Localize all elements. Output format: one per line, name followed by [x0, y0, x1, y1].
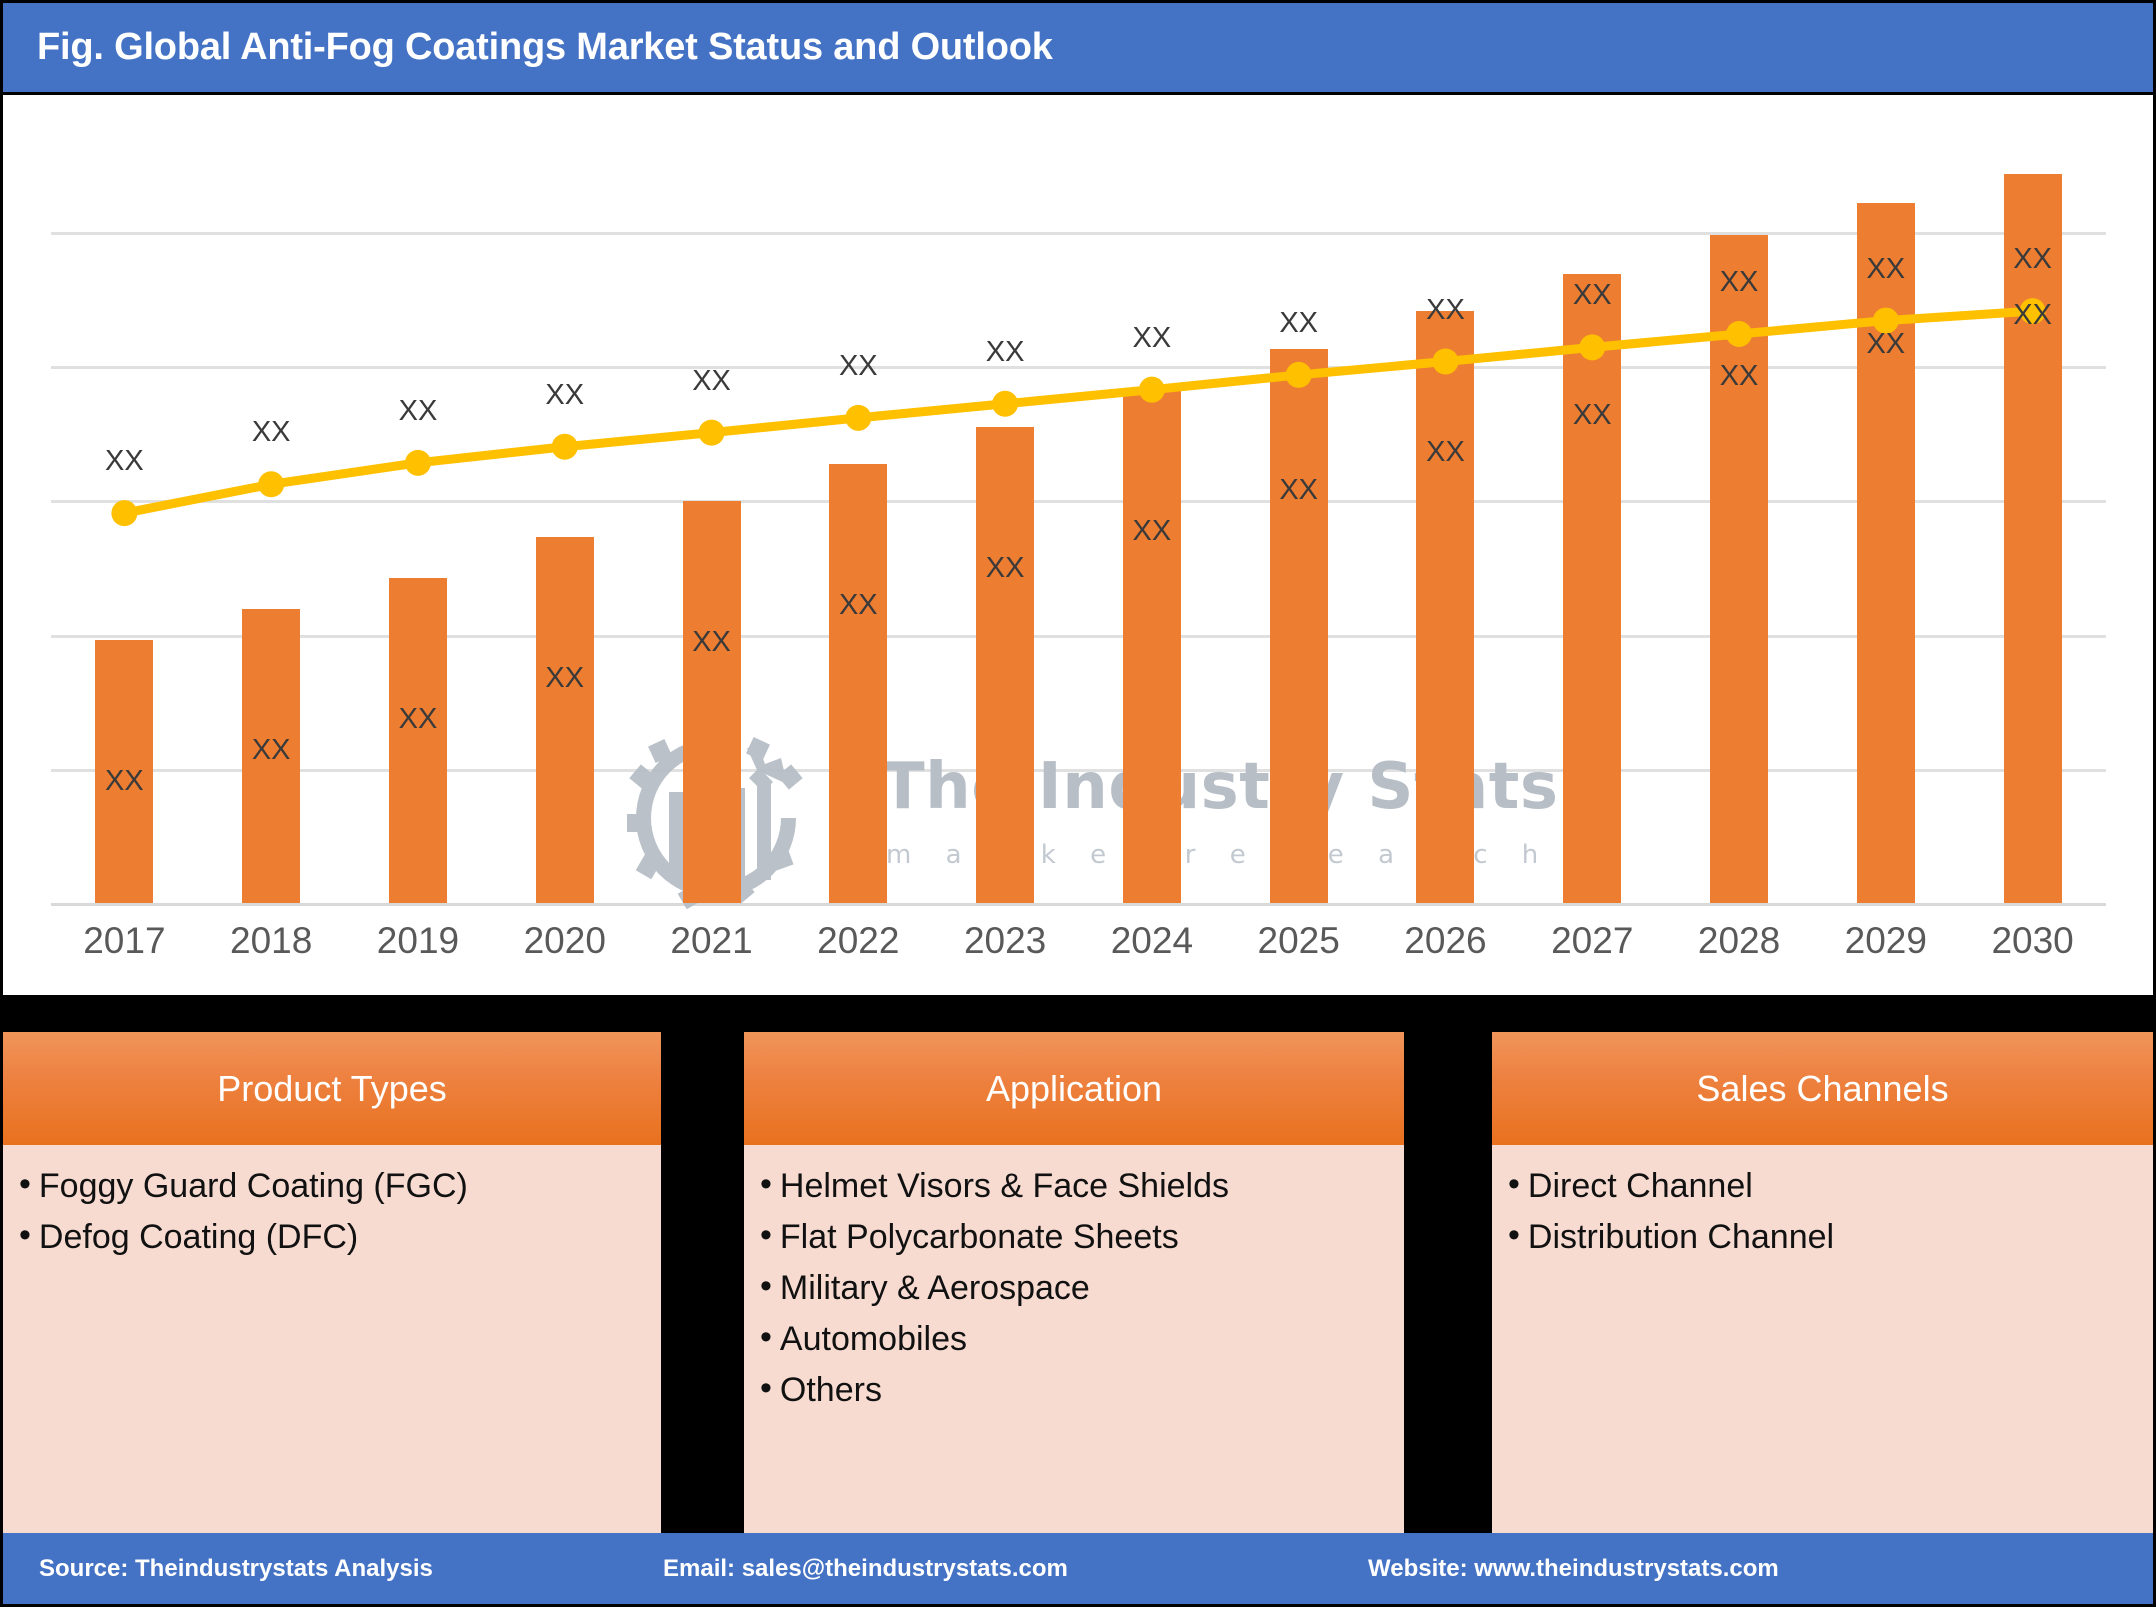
bar-value-label: XX: [662, 626, 762, 659]
list-item-label: Direct Channel: [1528, 1167, 1753, 1206]
list-item: •Flat Polycarbonate Sheets: [744, 1218, 1404, 1269]
bar-value-label: XX: [955, 552, 1055, 585]
footer-website[interactable]: Website: www.theindustrystats.com: [1368, 1555, 1779, 1583]
data-labels: XXXXXXXXXXXXXXXXXXXXXXXXXXXXXXXXXXXXXXXX…: [51, 135, 2106, 850]
chart-panel: The Industry Stats m a r k e t r e s e a…: [3, 95, 2153, 995]
bar-value-label: XX: [1542, 399, 1642, 432]
bullet-icon: •: [19, 1218, 31, 1252]
figure-footer: Source: Theindustrystats Analysis Email:…: [3, 1533, 2153, 1604]
x-axis-line: [51, 903, 2106, 906]
line-value-label: XX: [1836, 253, 1936, 286]
list-item: •Distribution Channel: [1492, 1218, 2153, 1269]
bar-value-label: XX: [221, 734, 321, 767]
x-axis-tick-label: 2027: [1522, 920, 1662, 962]
list-item-label: Helmet Visors & Face Shields: [780, 1167, 1229, 1206]
page-title: Fig. Global Anti-Fog Coatings Market Sta…: [3, 26, 1053, 69]
x-axis-tick-label: 2029: [1816, 920, 1956, 962]
panel-header: Product Types: [3, 1032, 661, 1145]
x-axis-tick-label: 2019: [348, 920, 488, 962]
x-axis-tick-label: 2017: [54, 920, 194, 962]
line-value-label: XX: [1542, 279, 1642, 312]
category-panels: Product Types •Foggy Guard Coating (FGC)…: [0, 1000, 2156, 1530]
bar-value-label: XX: [1836, 328, 1936, 361]
list-item-label: Distribution Channel: [1528, 1218, 1834, 1257]
panel-body: •Helmet Visors & Face Shields•Flat Polyc…: [744, 1145, 1404, 1572]
line-value-label: XX: [1249, 307, 1349, 340]
bar-value-label: XX: [368, 703, 468, 736]
plot-area: The Industry Stats m a r k e t r e s e a…: [51, 135, 2106, 850]
bar-value-label: XX: [74, 765, 174, 798]
list-item: •Direct Channel: [1492, 1167, 2153, 1218]
list-item-label: Automobiles: [780, 1320, 967, 1359]
panel-header: Application: [744, 1032, 1404, 1145]
panel-title: Product Types: [217, 1068, 446, 1110]
line-value-label: XX: [1983, 243, 2083, 276]
x-axis-tick-label: 2023: [935, 920, 1075, 962]
panel-header: Sales Channels: [1492, 1032, 2153, 1145]
x-axis-tick-label: 2028: [1669, 920, 1809, 962]
line-value-label: XX: [1395, 294, 1495, 327]
bar-value-label: XX: [1983, 299, 2083, 332]
line-value-label: XX: [368, 395, 468, 428]
line-value-label: XX: [955, 336, 1055, 369]
list-item: •Foggy Guard Coating (FGC): [3, 1167, 661, 1218]
footer-source: Source: Theindustrystats Analysis: [39, 1555, 433, 1583]
x-axis-tick-label: 2025: [1229, 920, 1369, 962]
bullet-icon: •: [760, 1269, 772, 1303]
list-item: •Defog Coating (DFC): [3, 1218, 661, 1269]
list-item: •Helmet Visors & Face Shields: [744, 1167, 1404, 1218]
line-value-label: XX: [74, 445, 174, 478]
list-item-label: Foggy Guard Coating (FGC): [39, 1167, 468, 1206]
x-axis-labels: 2017201820192020202120222023202420252026…: [51, 920, 2106, 980]
line-value-label: XX: [662, 365, 762, 398]
bar-value-label: XX: [515, 662, 615, 695]
footer-email[interactable]: Email: sales@theindustrystats.com: [663, 1555, 1068, 1583]
line-value-label: XX: [515, 379, 615, 412]
line-value-label: XX: [221, 416, 321, 449]
panel-sales-channels: Sales Channels •Direct Channel•Distribut…: [1492, 1032, 2153, 1572]
list-item-label: Others: [780, 1371, 882, 1410]
bar-value-label: XX: [1395, 436, 1495, 469]
list-item-label: Defog Coating (DFC): [39, 1218, 358, 1257]
line-value-label: XX: [1102, 322, 1202, 355]
panel-body: •Direct Channel•Distribution Channel: [1492, 1145, 2153, 1572]
bullet-icon: •: [760, 1320, 772, 1354]
bar-value-label: XX: [1689, 360, 1789, 393]
x-axis-tick-label: 2030: [1963, 920, 2103, 962]
bar-value-label: XX: [1102, 515, 1202, 548]
bar-value-label: XX: [808, 589, 908, 622]
panel-title: Sales Channels: [1696, 1068, 1948, 1110]
x-axis-tick-label: 2026: [1375, 920, 1515, 962]
x-axis-tick-label: 2024: [1082, 920, 1222, 962]
figure-root: Fig. Global Anti-Fog Coatings Market Sta…: [0, 0, 2156, 1607]
bullet-icon: •: [19, 1167, 31, 1201]
x-axis-tick-label: 2020: [495, 920, 635, 962]
list-item: •Automobiles: [744, 1320, 1404, 1371]
list-item-label: Military & Aerospace: [780, 1269, 1090, 1308]
bullet-icon: •: [760, 1371, 772, 1405]
list-item: •Others: [744, 1371, 1404, 1422]
panel-application: Application •Helmet Visors & Face Shield…: [744, 1032, 1404, 1572]
line-value-label: XX: [1689, 266, 1789, 299]
bullet-icon: •: [1508, 1167, 1520, 1201]
figure-header: Fig. Global Anti-Fog Coatings Market Sta…: [3, 3, 2153, 92]
bullet-icon: •: [1508, 1218, 1520, 1252]
panel-product-types: Product Types •Foggy Guard Coating (FGC)…: [3, 1032, 661, 1572]
x-axis-tick-label: 2021: [642, 920, 782, 962]
bullet-icon: •: [760, 1218, 772, 1252]
x-axis-tick-label: 2022: [788, 920, 928, 962]
panel-title: Application: [986, 1068, 1162, 1110]
panel-body: •Foggy Guard Coating (FGC)•Defog Coating…: [3, 1145, 661, 1572]
line-value-label: XX: [808, 350, 908, 383]
x-axis-tick-label: 2018: [201, 920, 341, 962]
bullet-icon: •: [760, 1167, 772, 1201]
list-item-label: Flat Polycarbonate Sheets: [780, 1218, 1179, 1257]
bar-value-label: XX: [1249, 474, 1349, 507]
list-item: •Military & Aerospace: [744, 1269, 1404, 1320]
